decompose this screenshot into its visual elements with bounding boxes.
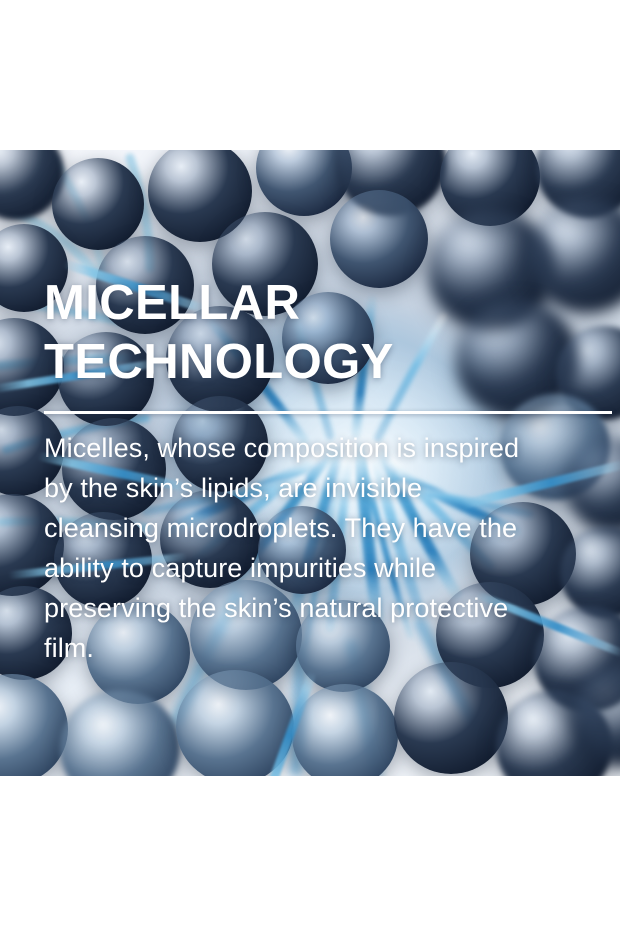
micelle-image-panel: [0, 150, 620, 776]
top-white-band: [0, 0, 620, 150]
bottom-white-band: [0, 776, 620, 930]
micellar-technology-card: MICELLAR TECHNOLOGY Micelles, whose comp…: [0, 0, 620, 930]
